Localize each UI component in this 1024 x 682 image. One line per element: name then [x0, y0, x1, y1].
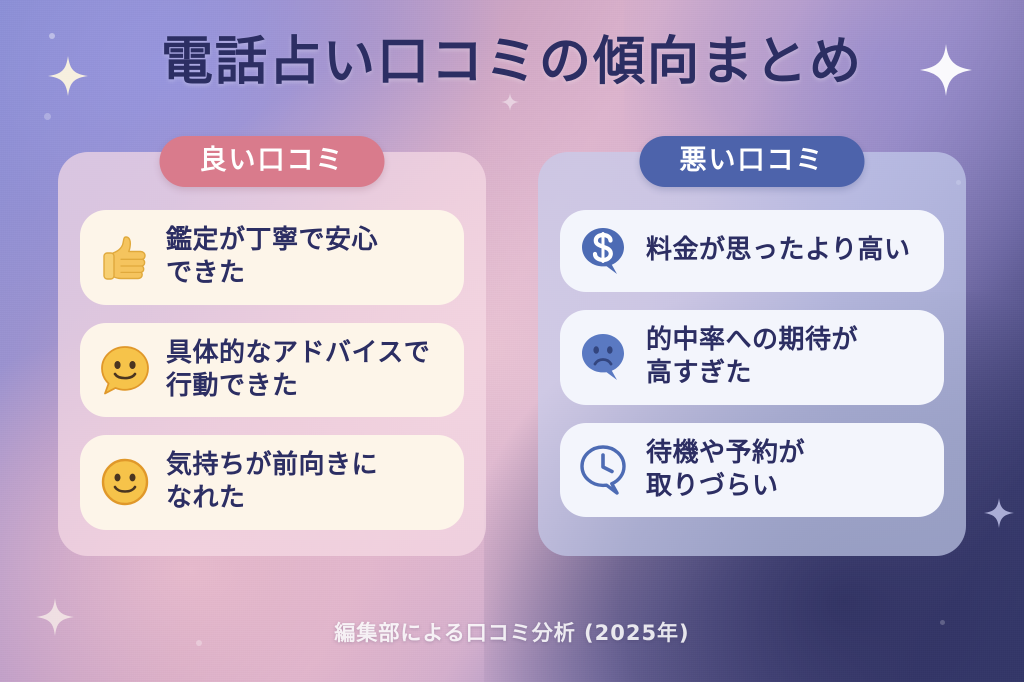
list-item[interactable]: 鑑定が丁寧で安心できた — [80, 210, 464, 305]
bad-reviews-badge: 悪い口コミ — [640, 136, 865, 187]
bad-reviews-panel: 悪い口コミ 料金が思ったより高い — [538, 152, 966, 556]
infographic-canvas: 電話占い口コミの傾向まとめ 良い口コミ 鑑定が丁寧で安心できた — [0, 0, 1024, 682]
smiling-face-icon — [98, 455, 152, 509]
smiling-face-speech-bubble-icon — [98, 343, 152, 397]
list-item-label: 鑑定が丁寧で安心できた — [166, 224, 378, 291]
list-item-label: 待機や予約が取りづらい — [646, 437, 805, 504]
list-item[interactable]: 具体的なアドバイスで行動できた — [80, 323, 464, 418]
page-title: 電話占い口コミの傾向まとめ — [0, 36, 1024, 88]
good-reviews-panel: 良い口コミ 鑑定が丁寧で安心できた — [58, 152, 486, 556]
clock-speech-bubble-icon — [578, 443, 632, 497]
list-item[interactable]: 料金が思ったより高い — [560, 210, 944, 292]
list-item[interactable]: 的中率への期待が高すぎた — [560, 310, 944, 405]
thumbs-up-icon — [98, 230, 152, 284]
dollar-speech-bubble-icon — [578, 224, 632, 278]
list-item-label: 的中率への期待が高すぎた — [646, 324, 858, 391]
list-item[interactable]: 気持ちが前向きになれた — [80, 435, 464, 530]
list-item-label: 気持ちが前向きになれた — [166, 449, 378, 516]
list-item-label: 料金が思ったより高い — [646, 234, 910, 267]
good-reviews-badge: 良い口コミ — [160, 136, 385, 187]
list-item-label: 具体的なアドバイスで行動できた — [166, 337, 430, 404]
list-item[interactable]: 待機や予約が取りづらい — [560, 423, 944, 518]
sad-face-speech-bubble-icon — [578, 330, 632, 384]
comparison-columns: 良い口コミ 鑑定が丁寧で安心できた — [0, 152, 1024, 556]
footer-caption: 編集部による口コミ分析 (2025年) — [0, 617, 1024, 647]
